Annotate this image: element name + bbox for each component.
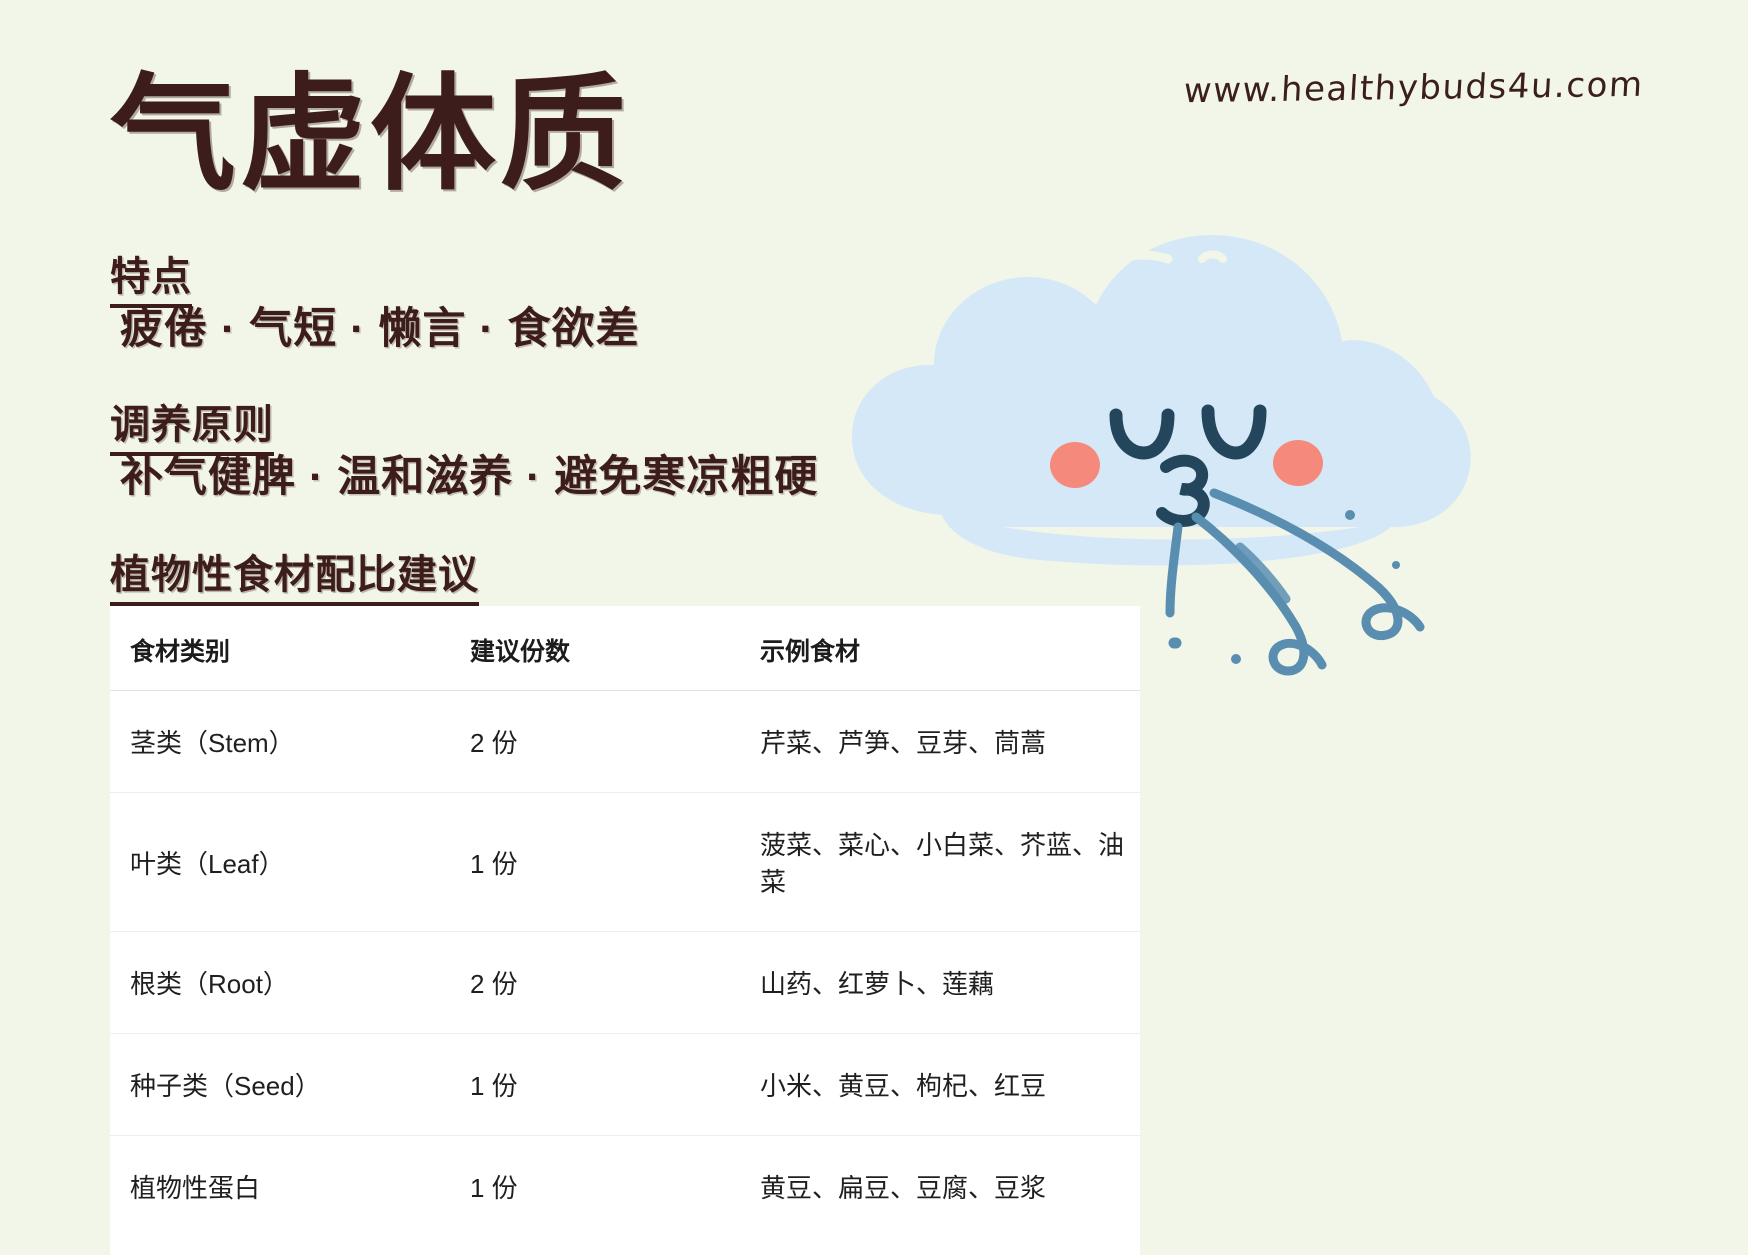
- cell-examples: 菠菜、菜心、小白菜、芥蓝、油菜: [760, 793, 1140, 932]
- column-header-category: 食材类别: [110, 606, 470, 691]
- table-row: 植物性蛋白 1 份 黄豆、扁豆、豆腐、豆浆: [110, 1136, 1140, 1238]
- blush-right-icon: [1273, 440, 1323, 486]
- website-url: www.healthybuds4u.com: [1182, 65, 1644, 111]
- table-row: 根类（Root） 2 份 山药、红萝卜、莲藕: [110, 932, 1140, 1034]
- eyes-icon: [1116, 411, 1260, 453]
- food-ratio-table-card: 食材类别 建议份数 示例食材 茎类（Stem） 2 份 芹菜、芦笋、豆芽、茼蒿 …: [110, 606, 1140, 1255]
- cell-servings: 1 份: [470, 793, 760, 932]
- table-row: 种子类（Seed） 1 份 小米、黄豆、枸杞、红豆: [110, 1034, 1140, 1136]
- section-body-characteristics: 疲倦 · 气短 · 懒言 · 食欲差: [120, 294, 640, 356]
- blush-left-icon: [1050, 442, 1100, 488]
- cloud-sparkle-icon: [1202, 255, 1223, 260]
- table-row: 茎类（Stem） 2 份 芹菜、芦笋、豆芽、茼蒿: [110, 691, 1140, 793]
- column-header-examples: 示例食材: [760, 606, 1140, 691]
- cloud-body-icon: [852, 235, 1471, 565]
- section-body-principles: 补气健脾 · 温和滋养 · 避免寒凉粗硬: [120, 442, 818, 504]
- section-heading-food-ratio: 植物性食材配比建议: [110, 542, 479, 606]
- cell-examples: 芹菜、芦笋、豆芽、茼蒿: [760, 691, 1140, 793]
- cell-servings: 2 份: [470, 691, 760, 793]
- wind-dots-icon: [1231, 510, 1400, 664]
- column-header-servings: 建议份数: [470, 606, 760, 691]
- cell-category: 叶类（Leaf）: [110, 793, 470, 932]
- cell-category: 根类（Root）: [110, 932, 470, 1034]
- mouth-icon: [1162, 461, 1204, 521]
- cell-examples: 小米、黄豆、枸杞、红豆: [760, 1034, 1140, 1136]
- cell-category: 植物性蛋白: [110, 1136, 470, 1238]
- cell-category: 茎类（Stem）: [110, 691, 470, 793]
- cell-category: 种子类（Seed）: [110, 1034, 470, 1136]
- cell-servings: 2 份: [470, 932, 760, 1034]
- wind-lines-icon: [1170, 493, 1420, 671]
- cell-servings: 1 份: [470, 1136, 760, 1238]
- cloud-highlight-icon: [1088, 255, 1168, 271]
- cell-servings: 1 份: [470, 1034, 760, 1136]
- table-header-row: 食材类别 建议份数 示例食材: [110, 606, 1140, 691]
- page-title: 气虚体质: [110, 72, 630, 198]
- cell-examples: 山药、红萝卜、莲藕: [760, 932, 1140, 1034]
- cell-examples: 黄豆、扁豆、豆腐、豆浆: [760, 1136, 1140, 1238]
- food-ratio-table: 食材类别 建议份数 示例食材 茎类（Stem） 2 份 芹菜、芦笋、豆芽、茼蒿 …: [110, 606, 1140, 1237]
- table-row: 叶类（Leaf） 1 份 菠菜、菜心、小白菜、芥蓝、油菜: [110, 793, 1140, 932]
